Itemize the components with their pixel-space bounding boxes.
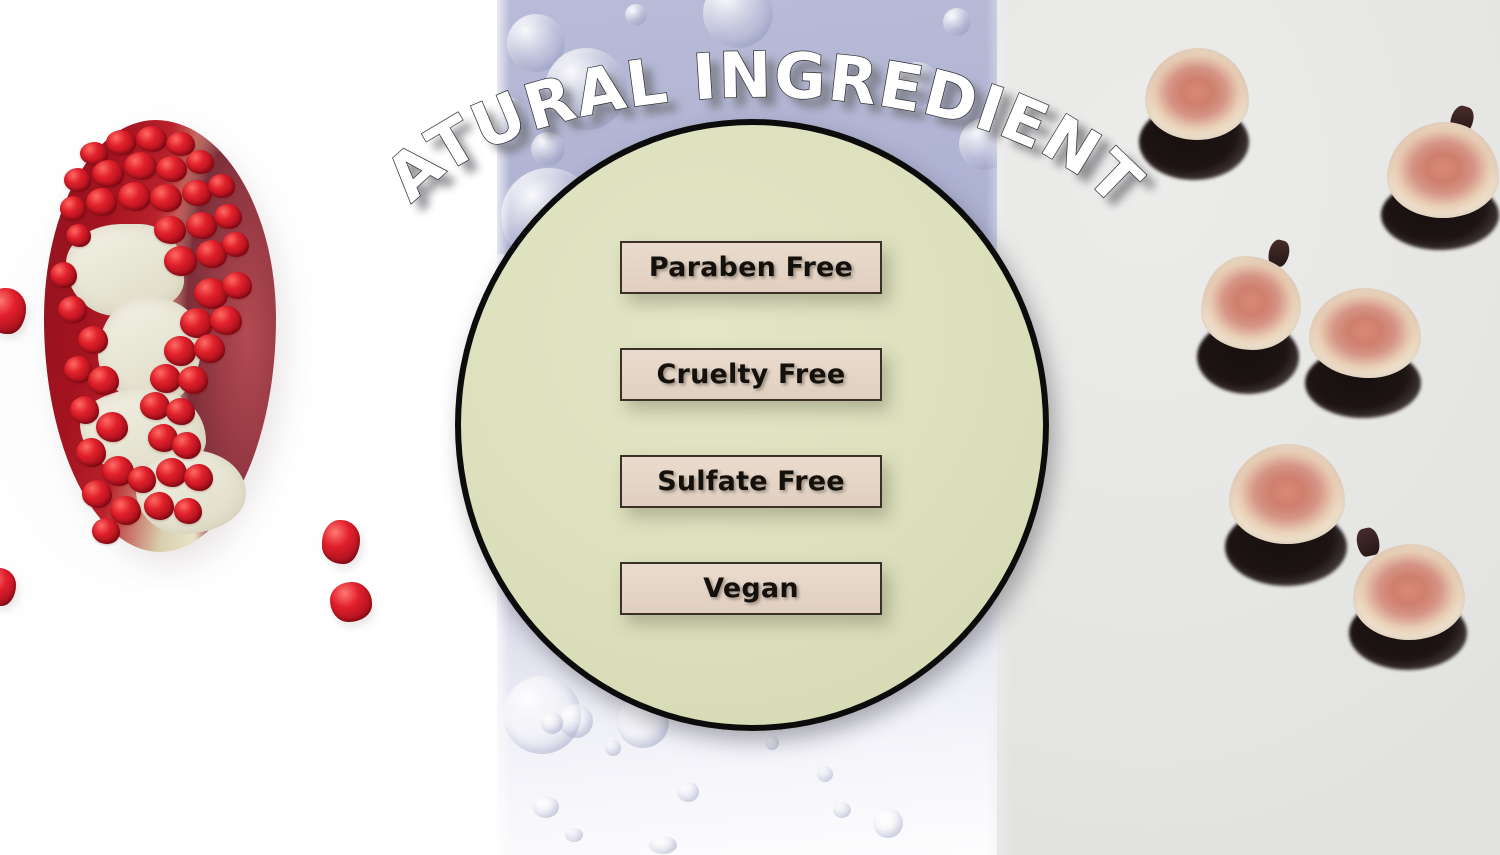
benefit-box-cruelty-free[interactable]: Cruelty Free: [620, 348, 882, 401]
bubble: [833, 802, 851, 818]
bubble: [533, 796, 559, 818]
bubble: [959, 118, 997, 170]
pomegranate-aril: [0, 568, 16, 606]
benefit-label: Vegan: [703, 573, 799, 604]
bubble: [605, 740, 621, 756]
bubble: [677, 782, 699, 802]
benefit-label: Paraben Free: [649, 252, 853, 283]
bubble: [703, 0, 773, 48]
pomegranate-aril: [322, 520, 360, 564]
benefit-list: Paraben Free Cruelty Free Sulfate Free V…: [620, 241, 882, 615]
bubble: [895, 62, 939, 106]
benefit-box-paraben-free[interactable]: Paraben Free: [620, 241, 882, 294]
pomegranate-aril: [0, 288, 26, 334]
bubble: [765, 736, 779, 750]
bubble: [531, 132, 565, 166]
pomegranate-photo-panel: [0, 0, 497, 855]
pomegranate-aril: [330, 582, 372, 622]
benefit-label: Cruelty Free: [657, 359, 846, 390]
bubble: [545, 48, 627, 130]
bubble: [943, 8, 971, 36]
bubble: [649, 836, 677, 854]
bubble: [873, 808, 903, 838]
bubble: [559, 704, 593, 738]
infographic-canvas: Paraben Free Cruelty Free Sulfate Free V…: [0, 0, 1500, 855]
benefit-label: Sulfate Free: [657, 466, 845, 497]
bubble: [817, 766, 833, 782]
bubble: [541, 712, 563, 734]
bubble: [625, 4, 647, 26]
pomegranate-half: [44, 120, 276, 552]
benefit-box-vegan[interactable]: Vegan: [620, 562, 882, 615]
benefit-box-sulfate-free[interactable]: Sulfate Free: [620, 455, 882, 508]
fig-photo-panel: [997, 0, 1500, 855]
bubble: [565, 828, 583, 842]
bubble: [497, 96, 529, 142]
